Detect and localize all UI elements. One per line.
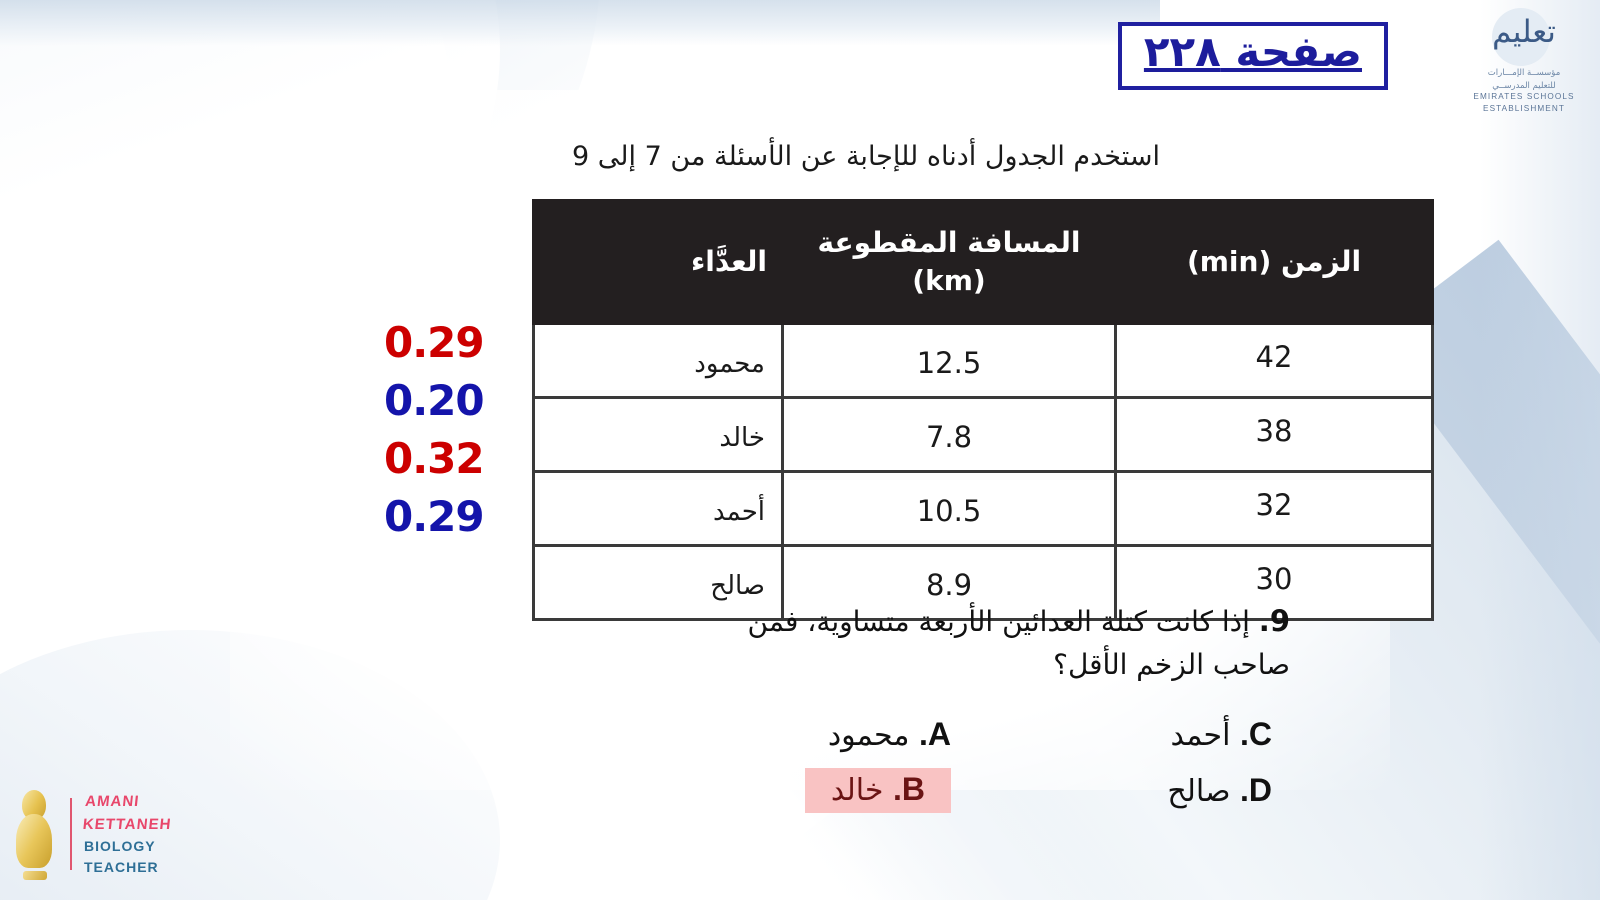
option-d-label: D. xyxy=(1240,772,1272,808)
header-distance: المسافة المقطوعة (km) xyxy=(783,201,1116,324)
logo-mark: تعليم xyxy=(1483,4,1565,66)
cell-runner: خالد xyxy=(534,398,783,472)
option-a-slot: A. محمود xyxy=(630,716,951,753)
option-b-selected[interactable]: B. خالد xyxy=(805,768,951,813)
annotation-value: 0.20 xyxy=(384,372,524,430)
option-d-slot: D. صالح xyxy=(951,772,1290,809)
option-c-label: C. xyxy=(1240,716,1272,752)
option-a[interactable]: A. محمود xyxy=(828,716,951,753)
table-head: الزمن (min) المسافة المقطوعة (km) العدَّ… xyxy=(534,201,1433,324)
answer-options: C. أحمد A. محمود D. صالح B. خالد xyxy=(630,706,1290,818)
option-c-text: أحمد xyxy=(1170,718,1230,753)
table-row: 38 7.8 خالد xyxy=(534,398,1433,472)
watermark-role: BIOLOGY TEACHER xyxy=(84,836,220,878)
page-number-badge: صفحة ٢٢٨ xyxy=(1118,22,1388,90)
cell-runner: أحمد xyxy=(534,472,783,546)
runners-data-table: الزمن (min) المسافة المقطوعة (km) العدَّ… xyxy=(532,199,1434,621)
question-number: 9. xyxy=(1259,604,1290,638)
cell-runner: محمود xyxy=(534,324,783,398)
momentum-annotations: 0.29 0.20 0.32 0.29 xyxy=(384,314,524,546)
option-d[interactable]: D. صالح xyxy=(1167,772,1272,809)
figure-silhouette-icon xyxy=(10,788,64,880)
emirates-schools-logo: تعليم مؤسســة الإمـــارات للتعليم المدرس… xyxy=(1464,4,1584,115)
logo-english-line-2: ESTABLISHMENT xyxy=(1464,104,1584,115)
logo-script-text: تعليم xyxy=(1483,2,1565,62)
option-b-slot: B. خالد xyxy=(630,768,951,813)
watermark-text: AMANI KETTANEH BIOLOGY TEACHER xyxy=(84,791,220,878)
cell-distance: 12.5 xyxy=(783,324,1116,398)
logo-arabic-line-1: مؤسســة الإمـــارات xyxy=(1464,68,1584,79)
option-b-label: B. xyxy=(893,771,925,807)
annotation-value: 0.29 xyxy=(384,314,524,372)
watermark-divider xyxy=(70,798,72,870)
question-block: 9. إذا كانت كتلة العدائين الأربعة متساوي… xyxy=(590,600,1290,686)
table-row: 42 12.5 محمود xyxy=(534,324,1433,398)
figure-body-shape xyxy=(16,814,52,868)
option-b-text: خالد xyxy=(831,773,884,808)
table-body: 42 12.5 محمود 38 7.8 خالد 32 10.5 أحمد 3… xyxy=(534,324,1433,620)
teacher-watermark: AMANI KETTANEH BIOLOGY TEACHER xyxy=(10,786,220,882)
figure-base-shape xyxy=(23,871,47,880)
cell-time: 32 xyxy=(1116,472,1433,546)
logo-arabic-line-2: للتعليم المدرســي xyxy=(1464,81,1584,92)
watermark-name: AMANI KETTANEH xyxy=(82,791,223,836)
option-c[interactable]: C. أحمد xyxy=(1170,716,1272,753)
options-row-1: C. أحمد A. محمود xyxy=(630,706,1290,762)
cell-distance: 7.8 xyxy=(783,398,1116,472)
cell-distance: 10.5 xyxy=(783,472,1116,546)
table-header-row: الزمن (min) المسافة المقطوعة (km) العدَّ… xyxy=(534,201,1433,324)
logo-english-line-1: EMIRATES SCHOOLS xyxy=(1464,92,1584,103)
option-a-label: A. xyxy=(919,716,951,752)
cell-time: 42 xyxy=(1116,324,1433,398)
instruction-text: استخدم الجدول أدناه للإجابة عن الأسئلة م… xyxy=(572,141,1160,172)
option-c-slot: C. أحمد xyxy=(951,716,1290,753)
annotation-value: 0.32 xyxy=(384,430,524,488)
question-line-1: 9. إذا كانت كتلة العدائين الأربعة متساوي… xyxy=(590,600,1290,644)
page-number-text: صفحة ٢٢٨ xyxy=(1144,30,1362,74)
slide-content: تعليم مؤسســة الإمـــارات للتعليم المدرس… xyxy=(0,0,1600,900)
header-runner: العدَّاء xyxy=(534,201,783,324)
option-a-text: محمود xyxy=(828,718,910,753)
cell-time: 38 xyxy=(1116,398,1433,472)
question-text-line-1: إذا كانت كتلة العدائين الأربعة متساوية، … xyxy=(748,605,1250,638)
option-d-text: صالح xyxy=(1167,774,1230,809)
header-time: الزمن (min) xyxy=(1116,201,1433,324)
options-row-2: D. صالح B. خالد xyxy=(630,762,1290,818)
annotation-value: 0.29 xyxy=(384,488,524,546)
table-row: 32 10.5 أحمد xyxy=(534,472,1433,546)
question-text-line-2: صاحب الزخم الأقل؟ xyxy=(590,644,1290,686)
